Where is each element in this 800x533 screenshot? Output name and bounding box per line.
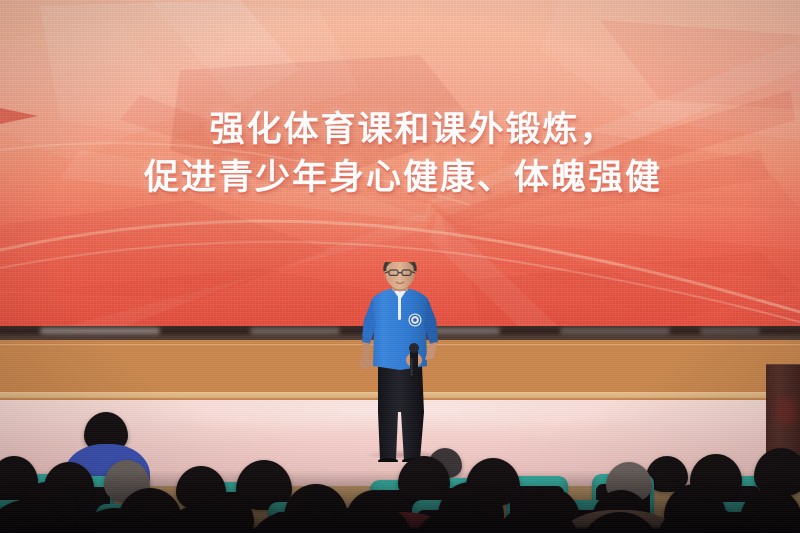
banner-slogan: 强化体育课和课外锻炼， 促进青少年身心健康、体魄强健 bbox=[0, 106, 800, 202]
banner-line-1: 强化体育课和课外锻炼， bbox=[0, 106, 800, 154]
right-forearm bbox=[425, 342, 437, 360]
banner-line-2: 促进青少年身心健康、体魄强健 bbox=[0, 154, 800, 202]
shirt-placket bbox=[398, 294, 401, 320]
left-hand bbox=[360, 357, 373, 369]
handheld-microphone bbox=[409, 343, 419, 382]
auditorium-photo: 强化体育课和课外锻炼， 促进青少年身心健康、体魄强健 bbox=[0, 0, 800, 533]
foreground-shadow-veil bbox=[0, 470, 800, 533]
